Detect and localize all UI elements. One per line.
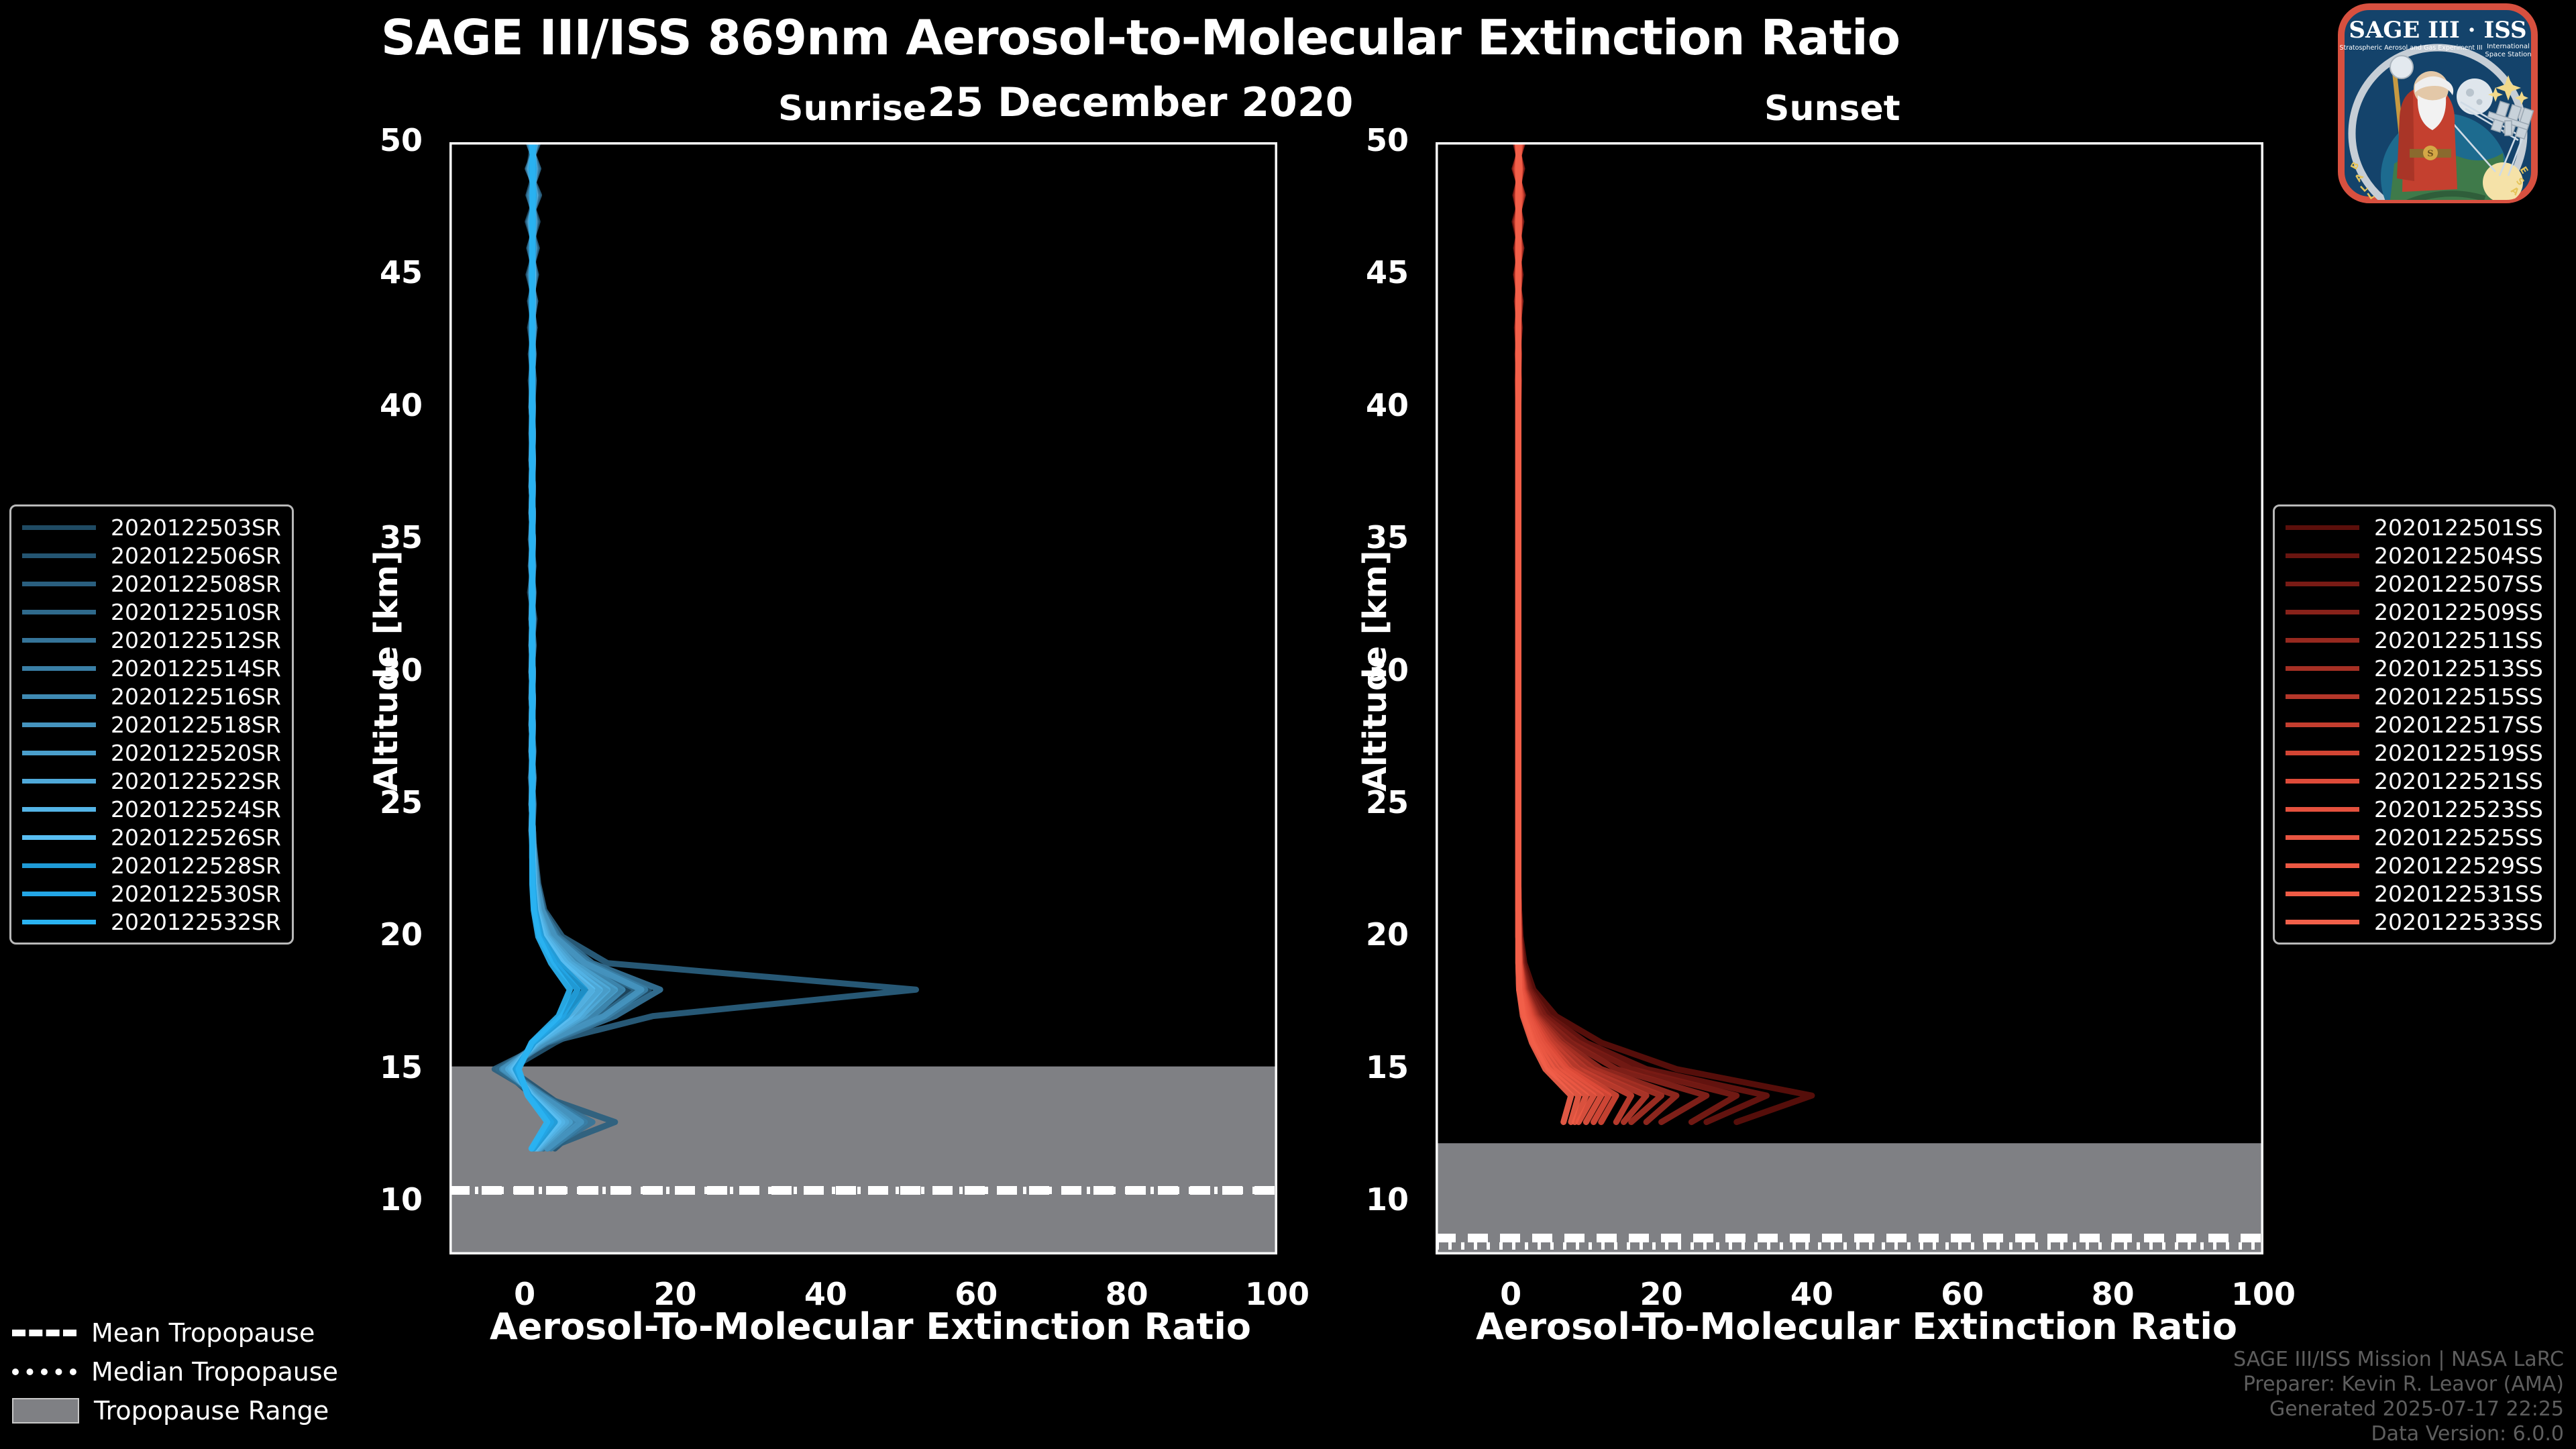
credits-block: SAGE III/ISS Mission | NASA LaRC Prepare…	[2233, 1347, 2564, 1446]
legend-color-swatch	[2286, 779, 2359, 784]
legend-label: 2020122509SS	[2374, 599, 2543, 625]
x-tick-label: 100	[1237, 1276, 1318, 1312]
legend-item[interactable]: 2020122530SR	[22, 879, 281, 908]
legend-item-tropopause-range: Tropopause Range	[12, 1391, 338, 1430]
y-tick-label: 30	[362, 652, 423, 688]
legend-color-swatch	[2286, 807, 2359, 812]
legend-label: 2020122514SR	[111, 655, 281, 682]
legend-label: 2020122512SR	[111, 627, 281, 653]
legend-label: 2020122523SS	[2374, 796, 2543, 822]
legend-item[interactable]: 2020122522SR	[22, 767, 281, 795]
y-tick-label: 35	[362, 519, 423, 555]
x-tick-label: 0	[484, 1276, 565, 1312]
legend-item[interactable]: 2020122501SS	[2286, 513, 2543, 541]
legend-item[interactable]: 2020122524SR	[22, 795, 281, 823]
x-tick-label: 60	[936, 1276, 1016, 1312]
filled-box-icon	[12, 1398, 79, 1424]
legend-item[interactable]: 2020122516SR	[22, 682, 281, 710]
legend-label: 2020122529SS	[2374, 853, 2543, 879]
legend-item[interactable]: 2020122511SS	[2286, 626, 2543, 654]
x-tick-label: 20	[635, 1276, 716, 1312]
y-tick-label: 45	[1348, 254, 1409, 290]
tropopause-legend: Mean Tropopause Median Tropopause Tropop…	[12, 1313, 338, 1430]
legend-label: 2020122507SS	[2374, 571, 2543, 597]
legend-color-swatch	[22, 863, 96, 868]
legend-label: 2020122533SS	[2374, 909, 2543, 935]
legend-item[interactable]: 2020122533SS	[2286, 908, 2543, 936]
y-tick-label: 10	[1348, 1181, 1409, 1218]
legend-label: 2020122513SS	[2374, 655, 2543, 682]
legend-color-swatch	[22, 807, 96, 812]
legend-color-swatch	[2286, 525, 2359, 530]
svg-text:International: International	[2487, 43, 2530, 50]
y-tick-label: 20	[1348, 916, 1409, 953]
y-tick-label: 35	[1348, 519, 1409, 555]
legend-color-swatch	[22, 582, 96, 586]
x-tick-label: 0	[1470, 1276, 1551, 1312]
legend-color-swatch	[2286, 751, 2359, 755]
sunrise-legend[interactable]: 2020122503SR2020122506SR2020122508SR2020…	[9, 504, 294, 945]
legend-label: 2020122519SS	[2374, 740, 2543, 766]
legend-label-tropopause-range: Tropopause Range	[94, 1396, 329, 1426]
legend-color-swatch	[2286, 582, 2359, 586]
legend-label: 2020122516SR	[111, 684, 281, 710]
legend-item[interactable]: 2020122515SS	[2286, 682, 2543, 710]
sunrise-plot	[449, 142, 1277, 1254]
legend-label-median-tropopause: Median Tropopause	[91, 1357, 338, 1387]
legend-label: 2020122511SS	[2374, 627, 2543, 653]
legend-color-swatch	[22, 694, 96, 699]
legend-label: 2020122501SS	[2374, 515, 2543, 541]
tropopause-range-band	[449, 1067, 1277, 1254]
sunset-panel-label: Sunset	[1764, 89, 1900, 129]
legend-label: 2020122506SR	[111, 543, 281, 569]
legend-item[interactable]: 2020122508SR	[22, 570, 281, 598]
legend-color-swatch	[22, 779, 96, 784]
legend-color-swatch	[22, 751, 96, 755]
y-tick-label: 25	[1348, 784, 1409, 820]
legend-label: 2020122508SR	[111, 571, 281, 597]
legend-label: 2020122520SR	[111, 740, 281, 766]
legend-color-swatch	[22, 920, 96, 924]
legend-color-swatch	[2286, 722, 2359, 727]
legend-item[interactable]: 2020122509SS	[2286, 598, 2543, 626]
legend-item[interactable]: 2020122528SR	[22, 851, 281, 879]
x-tick-label: 40	[1772, 1276, 1852, 1312]
legend-item[interactable]: 2020122518SR	[22, 710, 281, 739]
legend-label: 2020122510SR	[111, 599, 281, 625]
legend-color-swatch	[2286, 666, 2359, 671]
legend-label: 2020122522SR	[111, 768, 281, 794]
y-tick-label: 50	[362, 122, 423, 158]
y-tick-label: 25	[362, 784, 423, 820]
sage-iii-iss-mission-patch-icon: S B A L L E S A SAGE III · ISS Stratosph…	[2304, 3, 2572, 204]
legend-label: 2020122517SS	[2374, 712, 2543, 738]
legend-item[interactable]: 2020122521SS	[2286, 767, 2543, 795]
legend-color-swatch	[2286, 863, 2359, 868]
legend-color-swatch	[22, 525, 96, 530]
legend-item[interactable]: 2020122531SS	[2286, 879, 2543, 908]
legend-item[interactable]: 2020122510SR	[22, 598, 281, 626]
legend-item[interactable]: 2020122507SS	[2286, 570, 2543, 598]
legend-label-mean-tropopause: Mean Tropopause	[91, 1318, 315, 1348]
legend-color-swatch	[2286, 553, 2359, 558]
credits-mission: SAGE III/ISS Mission | NASA LaRC	[2233, 1347, 2564, 1372]
y-tick-label: 40	[1348, 387, 1409, 423]
y-tick-label: 10	[362, 1181, 423, 1218]
legend-item[interactable]: 2020122506SR	[22, 541, 281, 570]
legend-label: 2020122518SR	[111, 712, 281, 738]
x-tick-label: 80	[1087, 1276, 1167, 1312]
legend-item[interactable]: 2020122520SR	[22, 739, 281, 767]
legend-item[interactable]: 2020122529SS	[2286, 851, 2543, 879]
legend-item[interactable]: 2020122513SS	[2286, 654, 2543, 682]
legend-label: 2020122524SR	[111, 796, 281, 822]
legend-item[interactable]: 2020122526SR	[22, 823, 281, 851]
legend-label: 2020122526SR	[111, 824, 281, 851]
svg-text:SAGE III · ISS: SAGE III · ISS	[2349, 17, 2526, 44]
legend-color-swatch	[2286, 920, 2359, 924]
dashed-line-icon	[12, 1330, 76, 1336]
x-tick-label: 80	[2073, 1276, 2153, 1312]
legend-label: 2020122504SS	[2374, 543, 2543, 569]
legend-color-swatch	[2286, 694, 2359, 699]
legend-label: 2020122521SS	[2374, 768, 2543, 794]
legend-color-swatch	[22, 638, 96, 643]
legend-label: 2020122532SR	[111, 909, 281, 935]
legend-label: 2020122531SS	[2374, 881, 2543, 907]
legend-item[interactable]: 2020122532SR	[22, 908, 281, 936]
legend-label: 2020122530SR	[111, 881, 281, 907]
legend-item[interactable]: 2020122514SR	[22, 654, 281, 682]
y-tick-label: 40	[362, 387, 423, 423]
sunset-plot	[1436, 142, 2263, 1254]
y-tick-label: 20	[362, 916, 423, 953]
legend-color-swatch	[22, 722, 96, 727]
page-subtitle-date: 25 December 2020	[0, 79, 2281, 126]
y-tick-label: 15	[362, 1049, 423, 1085]
legend-label: 2020122515SS	[2374, 684, 2543, 710]
y-tick-label: 15	[1348, 1049, 1409, 1085]
x-tick-label: 20	[1621, 1276, 1702, 1312]
legend-color-swatch	[2286, 610, 2359, 614]
y-tick-label: 50	[1348, 122, 1409, 158]
legend-color-swatch	[22, 610, 96, 614]
legend-color-swatch	[22, 835, 96, 840]
legend-item[interactable]: 2020122503SR	[22, 513, 281, 541]
legend-color-swatch	[22, 553, 96, 558]
x-tick-label: 100	[2223, 1276, 2304, 1312]
legend-item-mean-tropopause: Mean Tropopause	[12, 1313, 338, 1352]
legend-item[interactable]: 2020122525SS	[2286, 823, 2543, 851]
legend-item[interactable]: 2020122519SS	[2286, 739, 2543, 767]
legend-color-swatch	[22, 892, 96, 896]
svg-text:Space Station: Space Station	[2485, 51, 2531, 58]
x-tick-label: 60	[1922, 1276, 2002, 1312]
legend-label: 2020122503SR	[111, 515, 281, 541]
y-tick-label: 30	[1348, 652, 1409, 688]
legend-color-swatch	[2286, 892, 2359, 896]
y-tick-label: 45	[362, 254, 423, 290]
legend-item[interactable]: 2020122517SS	[2286, 710, 2543, 739]
svg-text:S: S	[2427, 149, 2433, 159]
svg-text:Stratospheric Aerosol and Gas: Stratospheric Aerosol and Gas Experiment…	[2339, 44, 2482, 52]
x-tick-label: 40	[786, 1276, 866, 1312]
legend-item[interactable]: 2020122512SR	[22, 626, 281, 654]
legend-label: 2020122528SR	[111, 853, 281, 879]
credits-generated: Generated 2025-07-17 22:25	[2233, 1397, 2564, 1421]
sunset-legend[interactable]: 2020122501SS2020122504SS2020122507SS2020…	[2273, 504, 2556, 945]
legend-item[interactable]: 2020122504SS	[2286, 541, 2543, 570]
legend-item-median-tropopause: Median Tropopause	[12, 1352, 338, 1391]
credits-preparer: Preparer: Kevin R. Leavor (AMA)	[2233, 1372, 2564, 1397]
credits-data-version: Data Version: 6.0.0	[2233, 1421, 2564, 1446]
legend-color-swatch	[2286, 835, 2359, 840]
legend-item[interactable]: 2020122523SS	[2286, 795, 2543, 823]
page-title: SAGE III/ISS 869nm Aerosol-to-Molecular …	[0, 9, 2281, 66]
legend-label: 2020122525SS	[2374, 824, 2543, 851]
legend-color-swatch	[2286, 638, 2359, 643]
tropopause-range-band	[1436, 1143, 2263, 1254]
dotted-line-icon	[12, 1368, 76, 1375]
legend-color-swatch	[22, 666, 96, 671]
sunrise-panel-label: Sunrise	[778, 89, 926, 129]
